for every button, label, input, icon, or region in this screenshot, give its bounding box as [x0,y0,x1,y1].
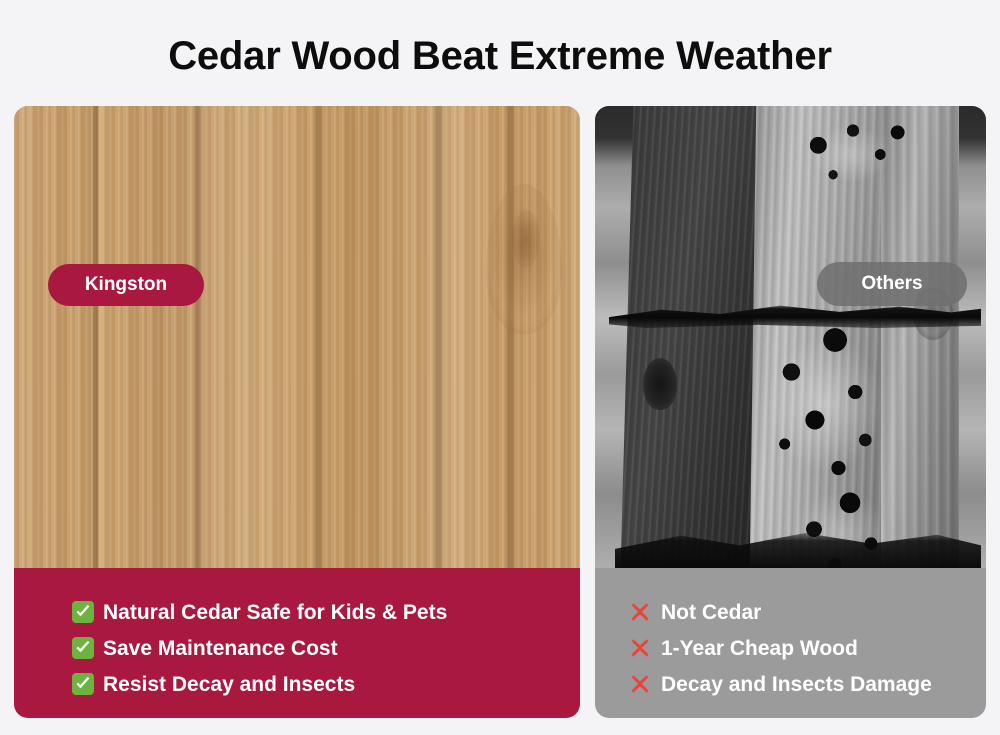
list-item: Not Cedar [628,594,986,630]
kingston-feature-list: Natural Cedar Safe for Kids & Pets Save … [72,594,580,702]
list-item-label: Decay and Insects Damage [661,674,932,695]
insect-damage-cluster-top [791,114,915,206]
cedar-wood-texture [14,106,580,568]
badge-kingston: Kingston [48,264,204,306]
green-check-icon [72,637,94,659]
list-item-label: 1-Year Cheap Wood [661,638,858,659]
green-check-icon [72,601,94,623]
green-check-icon [72,673,94,695]
list-item-label: Natural Cedar Safe for Kids & Pets [103,602,447,623]
page-title: Cedar Wood Beat Extreme Weather [0,34,1000,79]
red-cross-icon [628,672,652,696]
comparison-card-others: Others Not Cedar 1-Yea [595,106,986,718]
list-item: 1-Year Cheap Wood [628,630,986,666]
others-feature-list: Not Cedar 1-Year Cheap Wood Decay and In… [628,594,986,702]
insect-damage-cluster-middle [741,292,909,492]
others-feature-band: Not Cedar 1-Year Cheap Wood Decay and In… [595,568,986,718]
list-item: Resist Decay and Insects [72,666,580,702]
list-item-label: Not Cedar [661,602,761,623]
red-cross-icon [628,600,652,624]
badge-others: Others [817,262,967,306]
kingston-feature-band: Natural Cedar Safe for Kids & Pets Save … [14,568,580,718]
post-hollow [643,358,677,410]
list-item: Save Maintenance Cost [72,630,580,666]
list-item: Natural Cedar Safe for Kids & Pets [72,594,580,630]
red-cross-icon [628,636,652,660]
list-item-label: Save Maintenance Cost [103,638,338,659]
kingston-wood-image [14,106,580,568]
others-wood-image [595,106,986,568]
list-item-label: Resist Decay and Insects [103,674,355,695]
comparison-card-kingston: Kingston Natural Cedar Safe for Kids & P… [14,106,580,718]
list-item: Decay and Insects Damage [628,666,986,702]
wood-knot [512,210,540,268]
